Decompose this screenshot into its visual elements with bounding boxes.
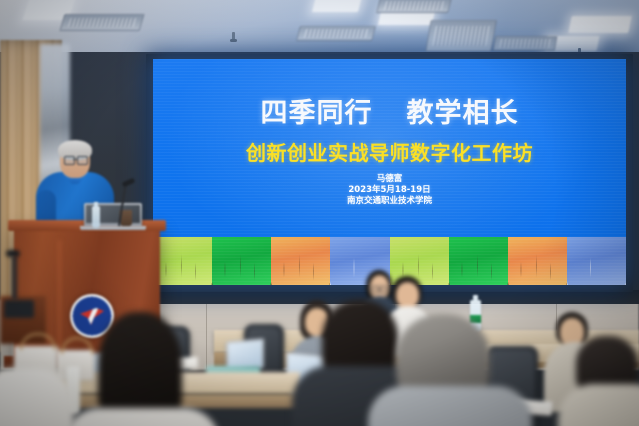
slide-title: 四季同行教学相长 [153,91,626,130]
eyeglasses-icon [64,156,88,163]
ceiling-light-panel [312,0,362,12]
mic-stand [12,256,17,300]
slide-meta: 马德富 2023年5月18-19日 南京交通职业技术学院 [153,174,626,207]
slide-date: 2023年5月18-19日 [153,185,626,196]
ceiling-air-vent [493,36,558,51]
season-image-winter [567,237,626,285]
slide-title-left: 四季同行 [261,98,373,129]
eyeglasses-icon [371,286,386,291]
ceiling-air-vent [60,14,145,31]
water-bottle [92,206,100,228]
slide-subtitle: 创新创业实战导师数字化工作坊 [153,137,626,166]
slide-institution: 南京交通职业技术学院 [153,196,626,207]
ceiling-air-vent [296,26,376,41]
ceiling-air-vent [376,0,452,13]
sprinkler-head [232,32,235,41]
slide-presenter-name: 马德富 [153,174,626,185]
season-image-summer [449,237,508,285]
ceiling-air-vent [425,20,497,52]
ceiling-light-panel [568,16,632,33]
slide-title-right: 教学相长 [407,98,519,129]
presenter-laptop-base [80,226,146,230]
season-image-spring [153,237,212,285]
conference-room-photo: 四季同行教学相长 创新创业实战导师数字化工作坊 马德富 2023年5月18-19… [0,0,639,426]
podium-cable [58,240,61,358]
season-image-autumn [508,237,567,285]
wall-seam [206,300,207,370]
equipment-box [4,300,34,318]
season-image-autumn [271,237,330,285]
microphone-icon [6,250,20,257]
projection-screen: 四季同行教学相长 创新创业实战导师数字化工作坊 马德富 2023年5月18-19… [153,59,626,285]
season-image-summer [212,237,271,285]
